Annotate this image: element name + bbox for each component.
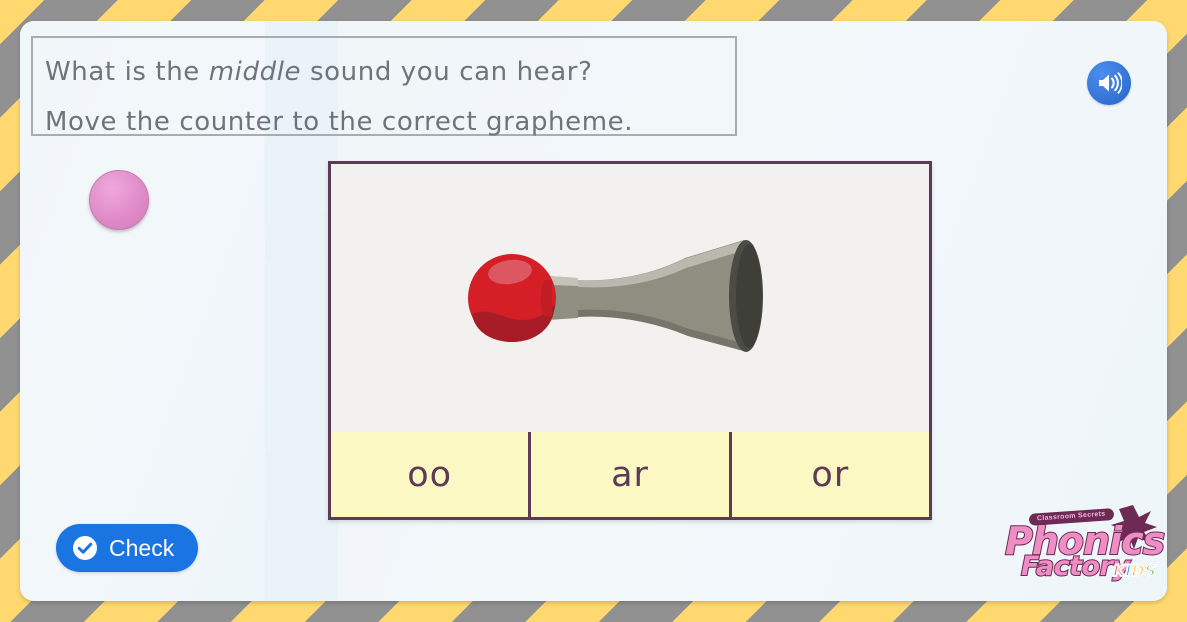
instruction-panel: What is the middle sound you can hear? M… xyxy=(31,36,737,136)
phonics-activity-screen: What is the middle sound you can hear? M… xyxy=(0,0,1187,622)
instruction-line-1: What is the middle sound you can hear? xyxy=(45,47,735,97)
instruction-text-part-2: sound you can hear? xyxy=(301,57,592,87)
instruction-emphasis-middle: middle xyxy=(209,57,301,87)
grapheme-label: ar xyxy=(611,455,649,495)
grapheme-option-3[interactable]: or xyxy=(732,432,929,517)
check-button[interactable]: Check xyxy=(56,524,198,572)
draggable-counter[interactable] xyxy=(89,170,149,230)
horn-illustration xyxy=(460,228,800,368)
instruction-line-2: Move the counter to the correct grapheme… xyxy=(45,97,735,147)
picture-area xyxy=(331,164,929,435)
grapheme-option-1[interactable]: oo xyxy=(331,432,531,517)
phonics-factory-logo: Classroom Secrets Phonics Factory KIDS xyxy=(1003,503,1163,591)
audio-play-button[interactable] xyxy=(1087,61,1131,105)
logo-word-kids: KIDS xyxy=(1113,561,1156,580)
grapheme-label: oo xyxy=(407,455,452,495)
question-frame: oo ar or xyxy=(328,161,932,520)
horn-image xyxy=(460,228,800,368)
activity-card: What is the middle sound you can hear? M… xyxy=(20,21,1167,601)
check-circle-icon xyxy=(72,535,98,561)
instruction-text-part-1: What is the xyxy=(45,57,209,87)
grapheme-options-row: oo ar or xyxy=(331,432,929,517)
check-button-label: Check xyxy=(109,535,174,562)
grapheme-option-2[interactable]: ar xyxy=(531,432,731,517)
grapheme-label: or xyxy=(811,455,849,495)
speaker-sound-icon xyxy=(1096,71,1122,95)
